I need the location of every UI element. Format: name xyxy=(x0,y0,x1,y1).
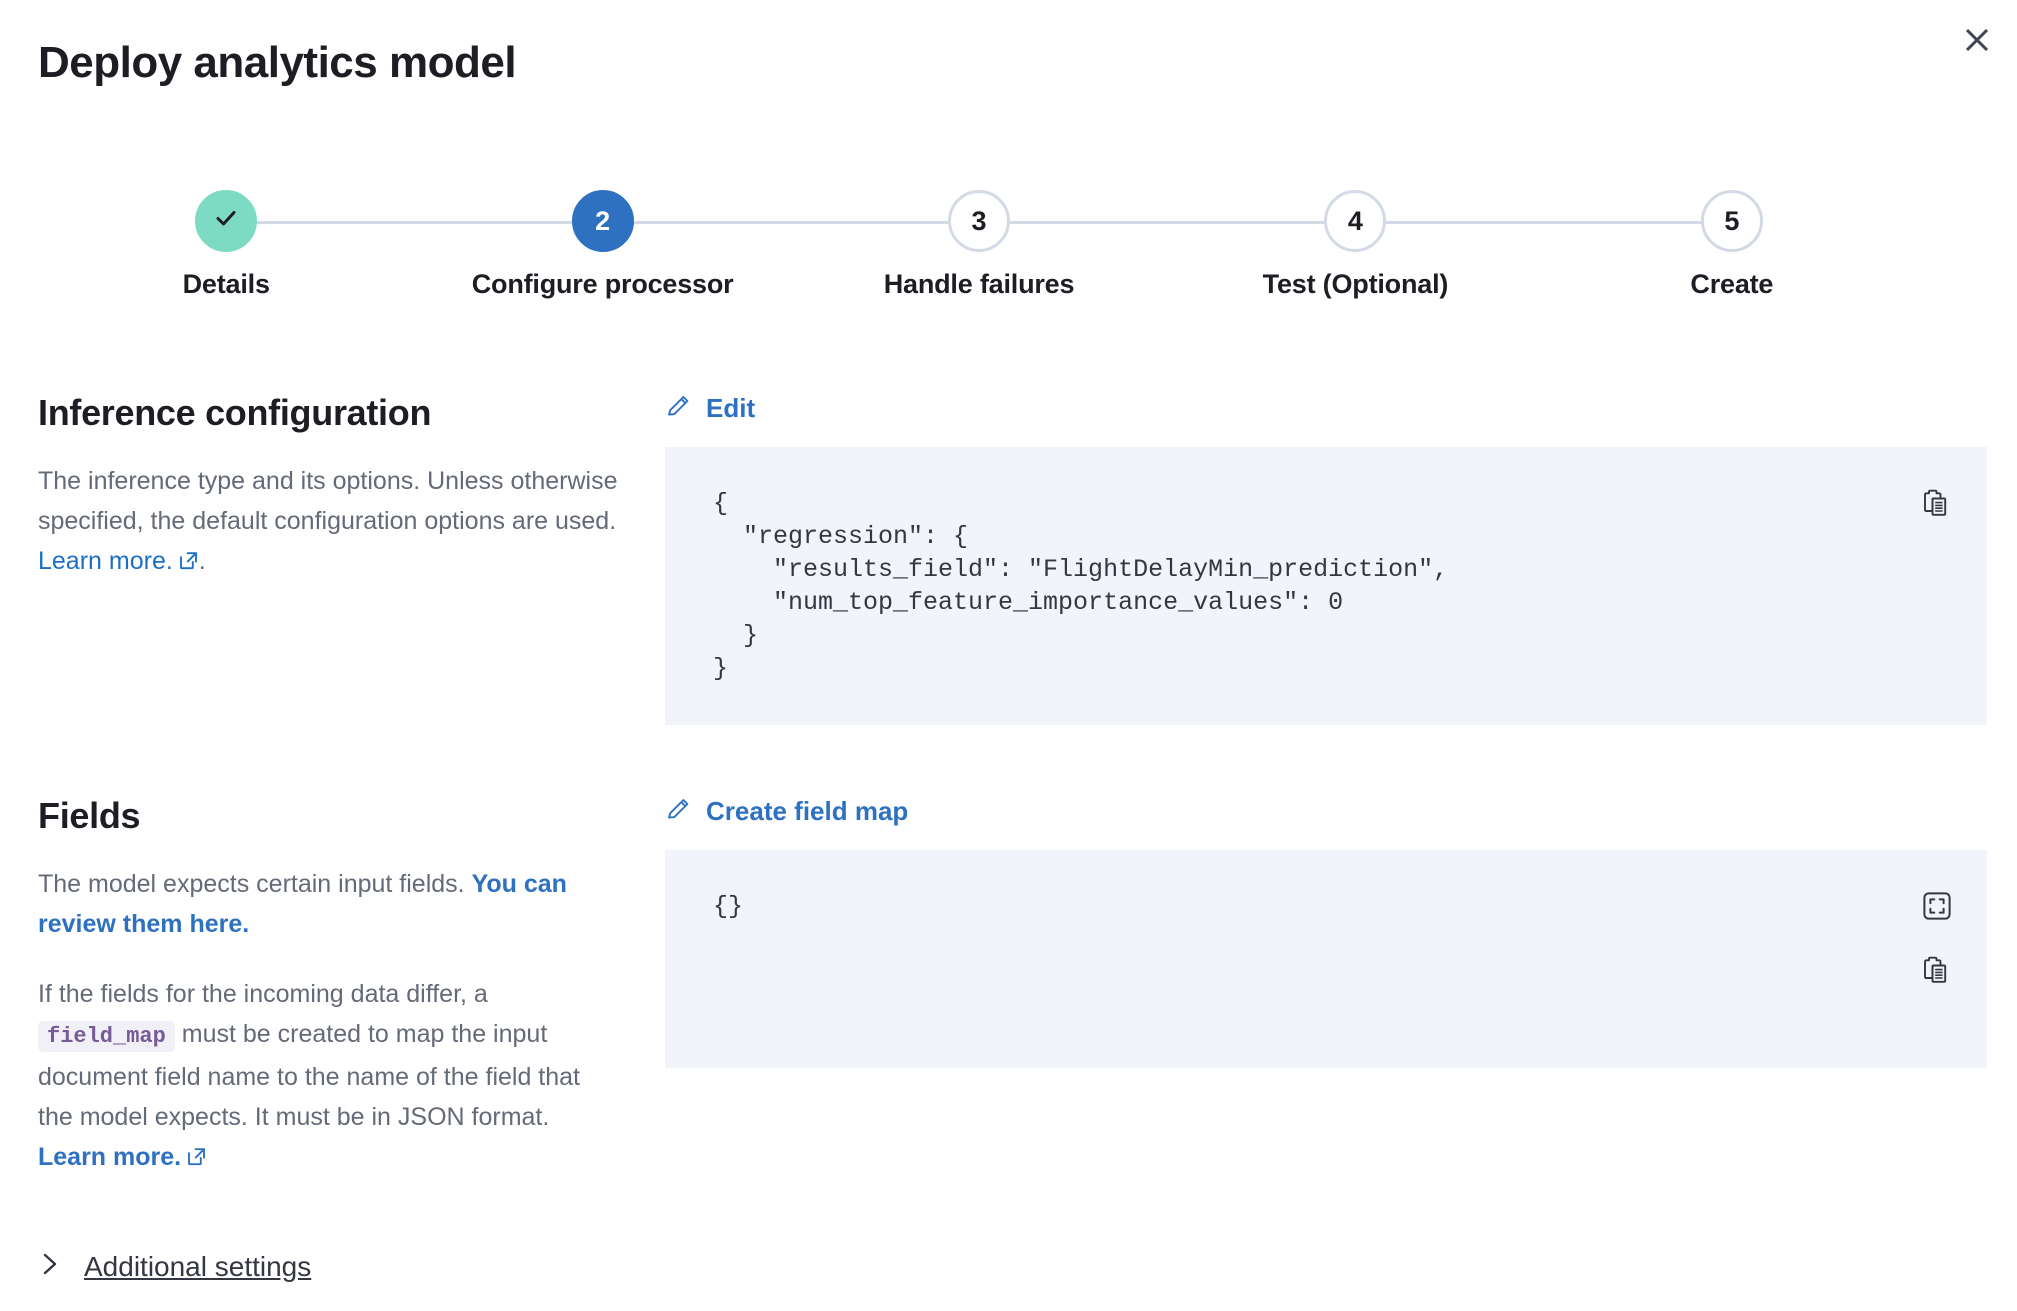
step-configure-processor[interactable]: 2 Configure processor xyxy=(414,190,790,300)
step-indicator-5: 5 xyxy=(1701,190,1763,252)
fieldmap-text-before: If the fields for the incoming data diff… xyxy=(38,980,488,1008)
copy-icon xyxy=(1921,487,1953,522)
fields-description-1: The model expects certain input fields. … xyxy=(38,864,618,944)
page-title: Deploy analytics model xyxy=(38,38,516,88)
fields-learn-more-link[interactable]: Learn more. xyxy=(38,1143,207,1171)
step-create[interactable]: 5 Create xyxy=(1544,190,1920,300)
field-map-code-chip: field_map xyxy=(38,1021,175,1052)
step-test-optional[interactable]: 4 Test (Optional) xyxy=(1167,190,1543,300)
inference-right-column: Edit { "regression": { "results_field": … xyxy=(665,392,1987,725)
expand-icon xyxy=(1921,890,1953,925)
check-icon xyxy=(211,203,241,240)
expand-field-map-button[interactable] xyxy=(1921,890,1953,925)
inference-code-content: { "regression": { "results_field": "Flig… xyxy=(713,487,1877,685)
field-map-code-content: {} xyxy=(713,890,1877,923)
fields-left-column: Fields The model expects certain input f… xyxy=(38,795,618,1179)
step-circle-row: 2 xyxy=(414,190,790,252)
fields-learn-more-label: Learn more. xyxy=(38,1143,181,1171)
inference-description-text: The inference type and its options. Unle… xyxy=(38,467,617,535)
field-map-code-block: {} xyxy=(665,850,1987,1068)
step-label-2: Configure processor xyxy=(472,269,734,300)
step-circle-row: 5 xyxy=(1544,190,1920,252)
create-field-map-label: Create field map xyxy=(706,796,908,827)
field-map-code-actions xyxy=(1921,890,1953,989)
wizard-stepper: Details 2 Configure processor 3 Handle f… xyxy=(38,190,1920,300)
step-circle-row: 4 xyxy=(1167,190,1543,252)
chevron-right-icon xyxy=(38,1250,62,1283)
step-details[interactable]: Details xyxy=(38,190,414,300)
pencil-icon xyxy=(665,392,693,425)
step-label-4: Test (Optional) xyxy=(1263,269,1449,300)
inference-learn-more-link[interactable]: Learn more. xyxy=(38,547,199,575)
close-button[interactable] xyxy=(1951,14,2003,66)
fields-description-text: The model expects certain input fields. xyxy=(38,870,472,898)
inference-left-column: Inference configuration The inference ty… xyxy=(38,392,618,583)
copy-icon xyxy=(1921,954,1953,989)
step-indicator-4: 4 xyxy=(1324,190,1386,252)
fields-right-column: Create field map {} xyxy=(665,795,1987,1068)
edit-inference-config-button[interactable]: Edit xyxy=(665,392,755,425)
inference-code-block: { "regression": { "results_field": "Flig… xyxy=(665,447,1987,725)
inference-code-actions xyxy=(1921,487,1953,522)
inference-description: The inference type and its options. Unle… xyxy=(38,461,618,583)
pencil-icon xyxy=(665,795,693,828)
step-indicator-2: 2 xyxy=(572,190,634,252)
create-field-map-button[interactable]: Create field map xyxy=(665,795,908,828)
additional-settings-accordion[interactable]: Additional settings xyxy=(38,1250,311,1283)
external-link-icon xyxy=(178,543,199,583)
external-link-icon xyxy=(186,1139,207,1179)
step-label-5: Create xyxy=(1690,269,1773,300)
inference-heading: Inference configuration xyxy=(38,392,618,434)
inference-learn-more-label: Learn more. xyxy=(38,547,173,575)
inference-description-tail: . xyxy=(199,547,206,575)
step-handle-failures[interactable]: 3 Handle failures xyxy=(791,190,1167,300)
step-circle-row: 3 xyxy=(791,190,1167,252)
copy-inference-code-button[interactable] xyxy=(1921,487,1953,522)
close-icon xyxy=(1964,27,1990,53)
fields-description-2: If the fields for the incoming data diff… xyxy=(38,974,618,1179)
additional-settings-label: Additional settings xyxy=(84,1251,311,1283)
fields-heading: Fields xyxy=(38,795,618,837)
copy-field-map-button[interactable] xyxy=(1921,954,1953,989)
step-indicator-3: 3 xyxy=(948,190,1010,252)
step-circle-row xyxy=(38,190,414,252)
step-label-1: Details xyxy=(183,269,270,300)
step-indicator-1 xyxy=(195,190,257,252)
deploy-analytics-model-modal: Deploy analytics model Details 2 xyxy=(0,0,2017,1311)
step-label-3: Handle failures xyxy=(884,269,1075,300)
edit-label: Edit xyxy=(706,393,755,424)
